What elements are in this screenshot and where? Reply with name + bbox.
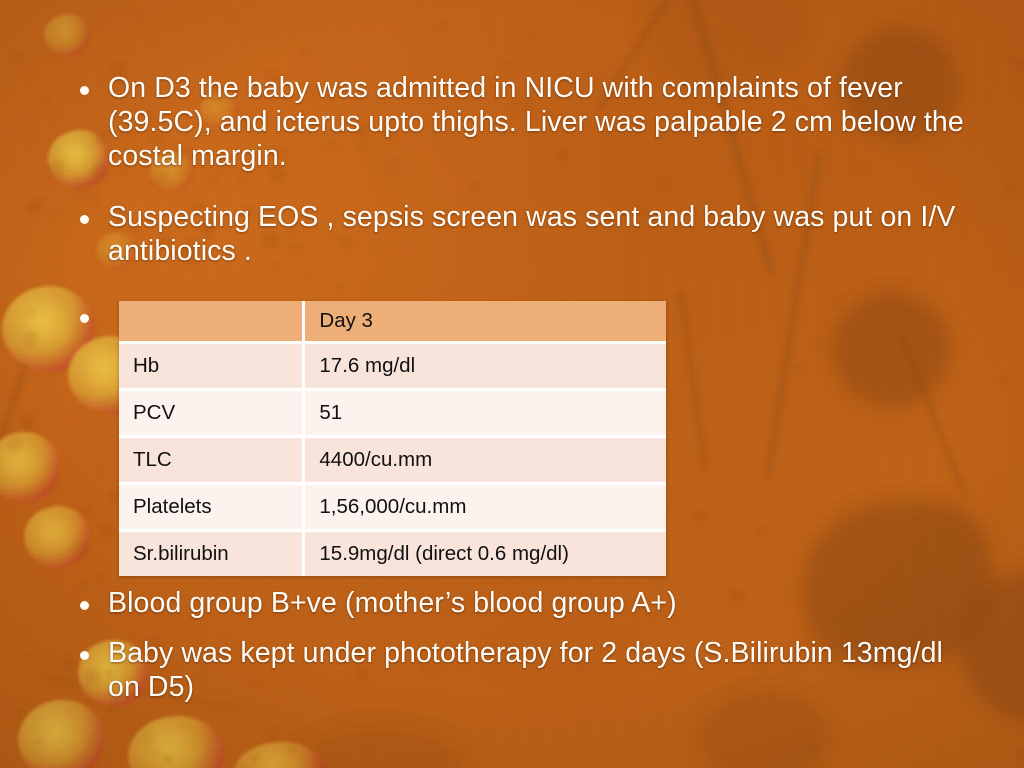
lab-parameter-value: 15.9mg/dl (direct 0.6 mg/dl) (305, 532, 666, 576)
bullet-marker-icon (80, 314, 89, 323)
lab-parameter-value: 17.6 mg/dl (305, 344, 666, 391)
bullet-text: On D3 the baby was admitted in NICU with… (108, 71, 970, 173)
bullet-item-blood-group-note: Blood group B+ve (mother’s blood group A… (80, 586, 970, 620)
lab-parameter-name: PCV (119, 391, 305, 438)
lab-table-head: Day 3 (119, 301, 666, 344)
bullet-marker-icon (80, 86, 89, 95)
bullet-item-lab-table (80, 299, 120, 323)
table-row: TLC4400/cu.mm (119, 438, 666, 485)
bullet-marker-icon (80, 215, 89, 224)
lab-parameter-value: 51 (305, 391, 666, 438)
table-row: Sr.bilirubin15.9mg/dl (direct 0.6 mg/dl) (119, 532, 666, 576)
lab-parameter-name: TLC (119, 438, 305, 485)
column-header-parameter (119, 301, 305, 344)
table-header-row: Day 3 (119, 301, 666, 344)
bullet-text: Suspecting EOS , sepsis screen was sent … (108, 200, 970, 268)
lab-parameter-name: Sr.bilirubin (119, 532, 305, 576)
lab-parameter-value: 1,56,000/cu.mm (305, 485, 666, 532)
lab-results-table: Day 3 Hb17.6 mg/dlPCV51TLC4400/cu.mmPlat… (119, 301, 666, 576)
bullet-marker-icon (80, 601, 89, 610)
lab-parameter-value: 4400/cu.mm (305, 438, 666, 485)
bullet-item-phototherapy-note: Baby was kept under phototherapy for 2 d… (80, 636, 970, 704)
table-row: Hb17.6 mg/dl (119, 344, 666, 391)
bullet-text: Blood group B+ve (mother’s blood group A… (108, 586, 677, 620)
slide-content: On D3 the baby was admitted in NICU with… (0, 0, 1024, 768)
bullet-item-admission-note: On D3 the baby was admitted in NICU with… (80, 71, 970, 173)
bullet-marker-icon (80, 651, 89, 660)
column-header-day3: Day 3 (305, 301, 666, 344)
lab-parameter-name: Platelets (119, 485, 305, 532)
bullet-text: Baby was kept under phototherapy for 2 d… (108, 636, 970, 704)
bullet-item-sepsis-note: Suspecting EOS , sepsis screen was sent … (80, 200, 970, 268)
table-row: Platelets1,56,000/cu.mm (119, 485, 666, 532)
lab-table-body: Hb17.6 mg/dlPCV51TLC4400/cu.mmPlatelets1… (119, 344, 666, 576)
slide-canvas: On D3 the baby was admitted in NICU with… (0, 0, 1024, 768)
table-row: PCV51 (119, 391, 666, 438)
lab-parameter-name: Hb (119, 344, 305, 391)
